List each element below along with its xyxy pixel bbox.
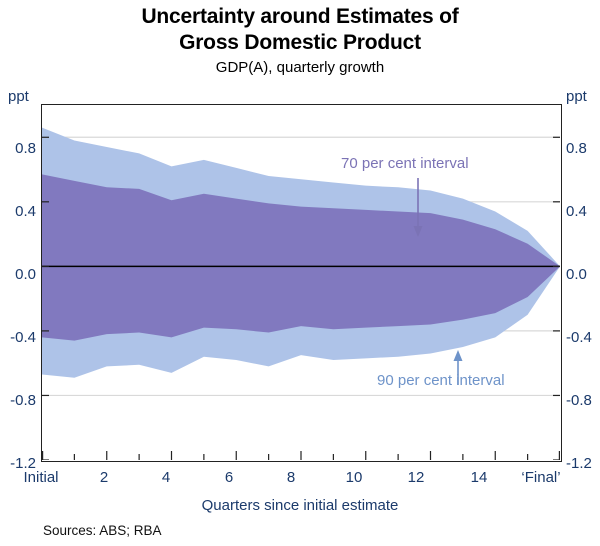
y-tick-label-right-4: -0.8 xyxy=(566,393,600,408)
y-tick-label-right-5: -1.2 xyxy=(566,456,600,471)
chart-title-line-1: Uncertainty around Estimates of xyxy=(0,4,600,30)
chart-subtitle: GDP(A), quarterly growth xyxy=(0,58,600,77)
y-tick-label-right-1: 0.4 xyxy=(566,204,600,219)
x-tick-label-2: 4 xyxy=(135,470,197,486)
x-axis-title: Quarters since initial estimate xyxy=(0,497,600,514)
chart-root: Uncertainty around Estimates of Gross Do… xyxy=(0,0,600,546)
x-tick-label-7: 14 xyxy=(448,470,510,486)
y-tick-label-right-2: 0.0 xyxy=(566,267,600,282)
sources-note: Sources: ABS; RBA xyxy=(43,523,162,538)
annotation-70-per-cent: 70 per cent interval xyxy=(341,155,469,172)
annotation-90-per-cent: 90 per cent interval xyxy=(377,372,505,389)
y-tick-label-left-0: 0.8 xyxy=(2,141,36,156)
y-tick-label-left-4: -0.8 xyxy=(2,393,36,408)
x-tick-label-1: 2 xyxy=(73,470,135,486)
y-tick-label-right-3: -0.4 xyxy=(566,330,600,345)
plot-svg xyxy=(42,105,560,460)
y-tick-label-left-3: -0.4 xyxy=(2,330,36,345)
plot-area xyxy=(41,104,562,462)
chart-title: Uncertainty around Estimates of Gross Do… xyxy=(0,4,600,56)
x-tick-label-6: 12 xyxy=(385,470,447,486)
x-tick-label-4: 8 xyxy=(260,470,322,486)
y-tick-label-left-1: 0.4 xyxy=(2,204,36,219)
chart-title-line-2: Gross Domestic Product xyxy=(0,30,600,56)
x-tick-label-8: ‘Final’ xyxy=(508,470,574,486)
y-tick-label-right-0: 0.8 xyxy=(566,141,600,156)
x-tick-label-0: Initial xyxy=(10,470,72,486)
x-tick-label-3: 6 xyxy=(198,470,260,486)
y-axis-unit-left: ppt xyxy=(8,88,29,105)
x-tick-label-5: 10 xyxy=(323,470,385,486)
y-tick-label-left-2: 0.0 xyxy=(2,267,36,282)
y-axis-unit-right: ppt xyxy=(566,88,587,105)
x-axis-ticks xyxy=(43,451,560,460)
